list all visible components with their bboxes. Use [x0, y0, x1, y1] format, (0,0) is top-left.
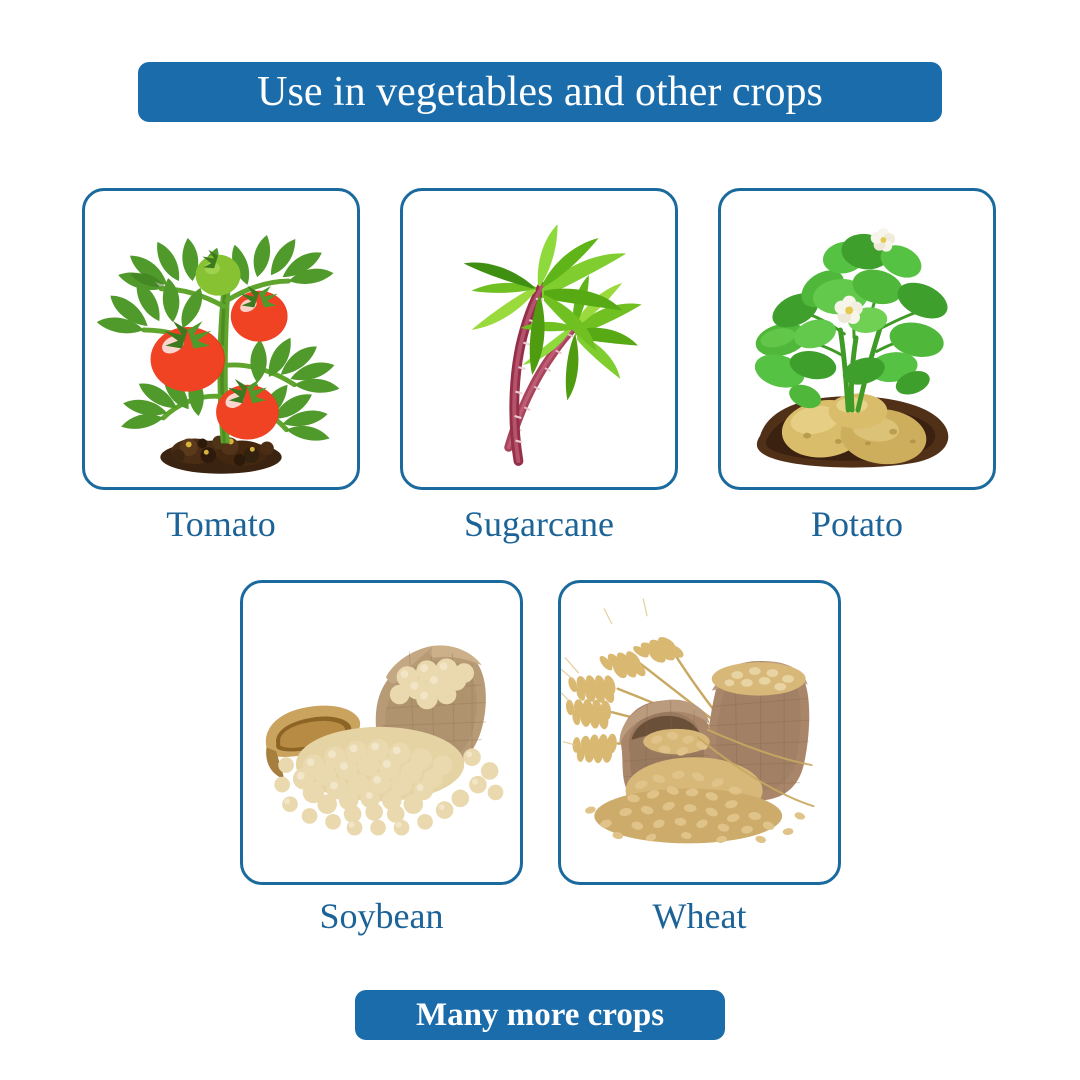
sugarcane-stalks-illustration [403, 191, 675, 486]
wheat-sack-illustration [561, 583, 838, 882]
crop-card-sugarcane[interactable] [400, 188, 678, 490]
crop-label-potato: Potato [718, 506, 996, 542]
crop-label-tomato: Tomato [82, 506, 360, 542]
crop-card-tomato[interactable] [82, 188, 360, 490]
crop-card-wheat[interactable] [558, 580, 841, 885]
crop-label-wheat: Wheat [558, 898, 841, 934]
crop-label-sugarcane: Sugarcane [400, 506, 678, 542]
footer-banner: Many more crops [355, 990, 725, 1040]
crop-label-soybean: Soybean [240, 898, 523, 934]
header-title: Use in vegetables and other crops [257, 68, 823, 116]
footer-title: Many more crops [416, 997, 664, 1034]
tomato-plant-illustration [85, 191, 357, 486]
infographic-page: Use in vegetables and other crops [0, 0, 1080, 1080]
potato-plant-illustration [721, 191, 993, 486]
soybean-sack-illustration [243, 583, 520, 882]
crop-card-potato[interactable] [718, 188, 996, 490]
crop-card-soybean[interactable] [240, 580, 523, 885]
header-banner: Use in vegetables and other crops [138, 62, 942, 122]
